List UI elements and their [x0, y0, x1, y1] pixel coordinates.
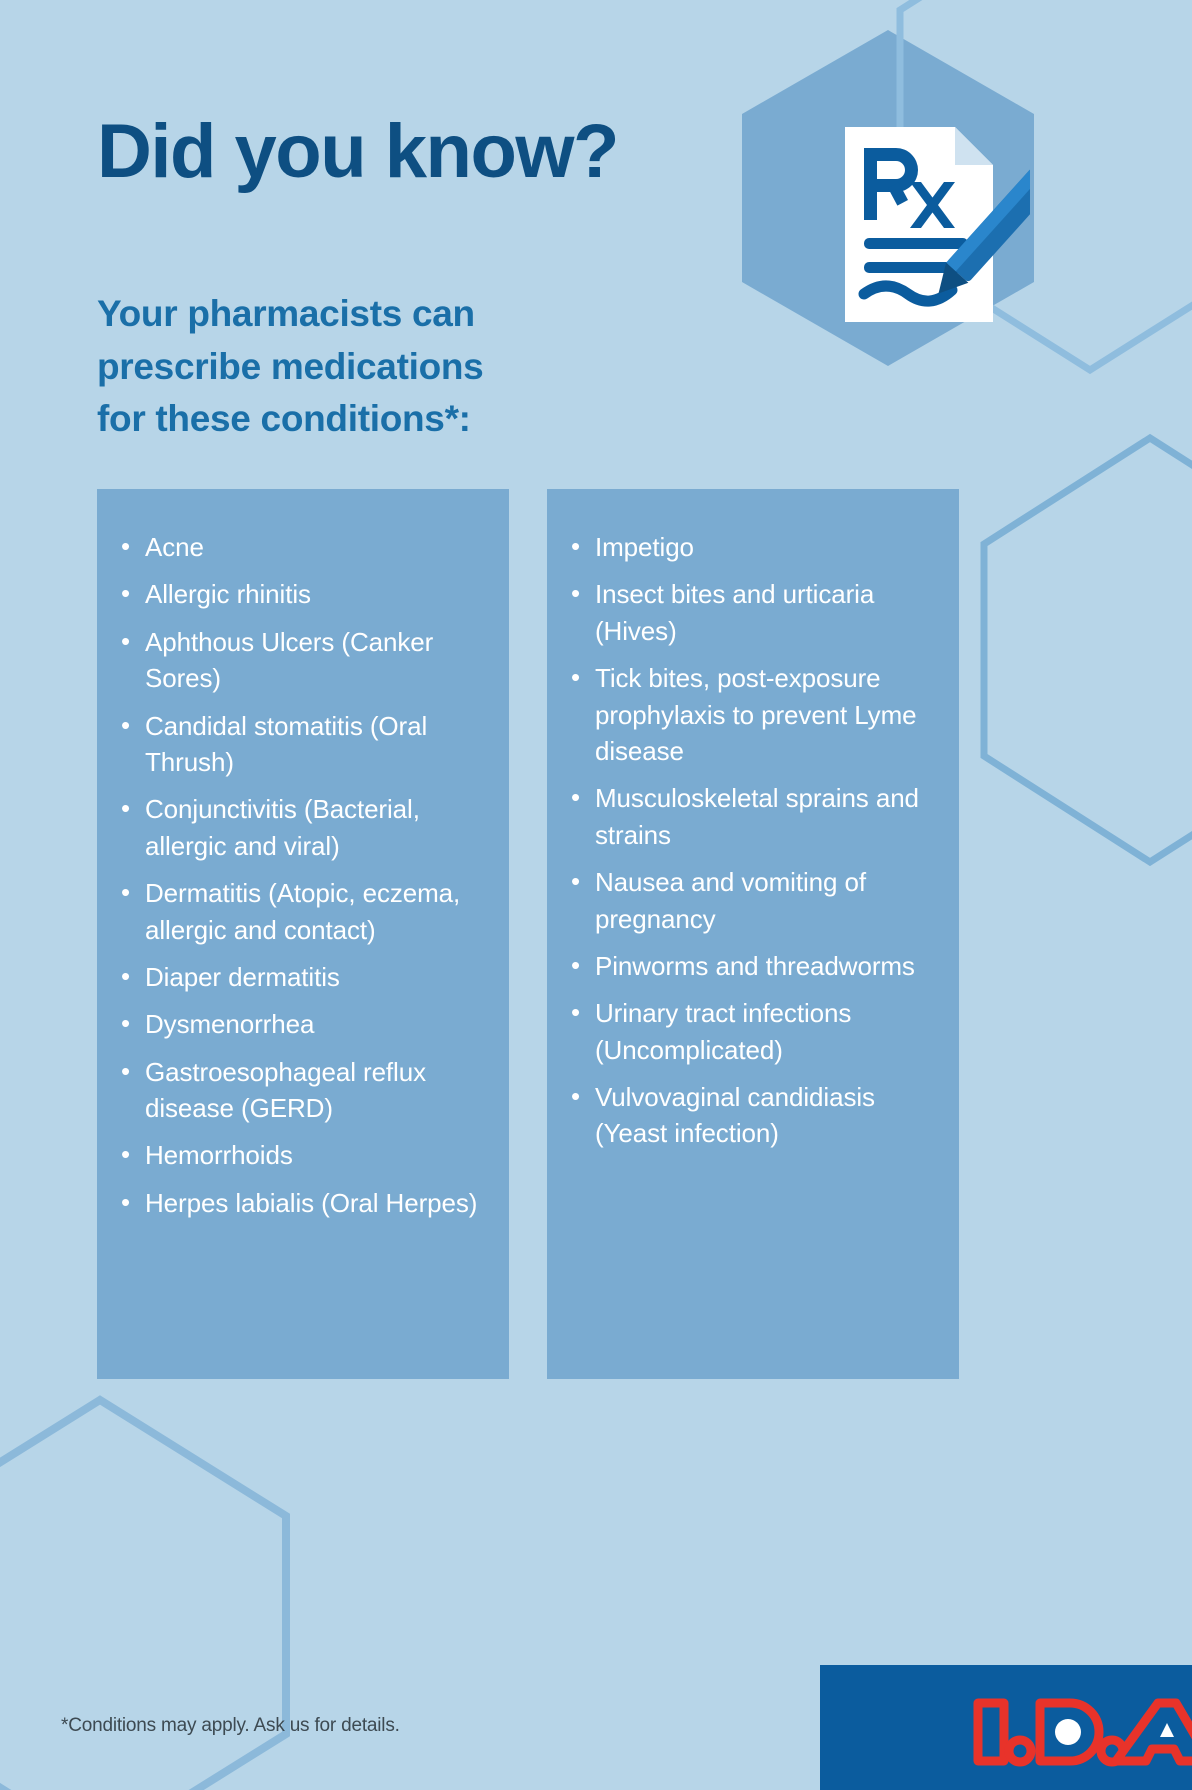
- ida-logo: ®: [820, 1665, 1192, 1790]
- list-item: Vulvovaginal candidiasis (Yeast infectio…: [569, 1079, 943, 1152]
- list-item: Urinary tract infections (Uncomplicated): [569, 995, 943, 1068]
- list-item: Tick bites, post-exposure prophylaxis to…: [569, 660, 943, 769]
- list-item: Herpes labialis (Oral Herpes): [119, 1185, 493, 1221]
- conditions-list-left: Acne Allergic rhinitis Aphthous Ulcers (…: [97, 489, 509, 1221]
- list-item: Aphthous Ulcers (Canker Sores): [119, 624, 493, 697]
- list-item: Musculoskeletal sprains and strains: [569, 780, 943, 853]
- subtitle-line-2: prescribe medications: [97, 341, 617, 394]
- list-item: Allergic rhinitis: [119, 576, 493, 612]
- list-item: Gastroesophageal reflux disease (GERD): [119, 1054, 493, 1127]
- disclaimer-text: *Conditions may apply. Ask us for detail…: [61, 1715, 400, 1737]
- list-item: Insect bites and urticaria (Hives): [569, 576, 943, 649]
- page-subtitle: Your pharmacists can prescribe medicatio…: [97, 288, 617, 446]
- rx-prescription-pad-icon: [740, 32, 1030, 362]
- conditions-panel-left: Acne Allergic rhinitis Aphthous Ulcers (…: [97, 489, 509, 1379]
- list-item: Dermatitis (Atopic, eczema, allergic and…: [119, 875, 493, 948]
- list-item: Acne: [119, 529, 493, 565]
- list-item: Conjunctivitis (Bacterial, allergic and …: [119, 791, 493, 864]
- list-item: Dysmenorrhea: [119, 1006, 493, 1042]
- conditions-list-right: Impetigo Insect bites and urticaria (Hiv…: [547, 489, 959, 1152]
- list-item: Diaper dermatitis: [119, 959, 493, 995]
- subtitle-line-1: Your pharmacists can: [97, 288, 617, 341]
- hexagon-outline-right-middle: [960, 430, 1192, 870]
- conditions-panel-right: Impetigo Insect bites and urticaria (Hiv…: [547, 489, 959, 1379]
- poster-root: Did you know? Your pharmacists can presc…: [0, 0, 1192, 1790]
- list-item: Impetigo: [569, 529, 943, 565]
- subtitle-line-3: for these conditions*:: [97, 393, 617, 446]
- list-item: Nausea and vomiting of pregnancy: [569, 864, 943, 937]
- page-title: Did you know?: [97, 112, 618, 192]
- list-item: Hemorrhoids: [119, 1137, 493, 1173]
- list-item: Candidal stomatitis (Oral Thrush): [119, 708, 493, 781]
- list-item: Pinworms and threadworms: [569, 948, 943, 984]
